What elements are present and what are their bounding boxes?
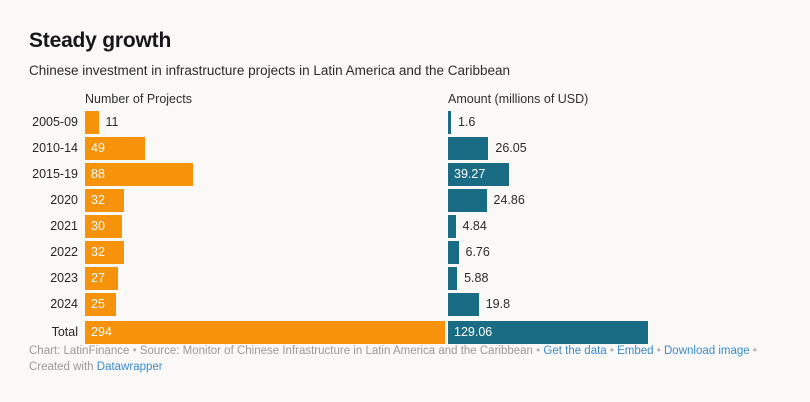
table-row: 2023275.88	[0, 266, 810, 292]
amount-value: 5.88	[464, 267, 488, 290]
row-label: 2021	[0, 217, 78, 235]
amount-value: 4.84	[463, 215, 487, 238]
amount-track: 5.88	[448, 267, 648, 290]
amount-value: 129.06	[454, 321, 492, 344]
chart-container: Steady growth Chinese investment in infr…	[0, 0, 810, 402]
footer-created-with: Created with	[29, 361, 94, 373]
projects-value: 88	[91, 163, 105, 186]
table-row: 2010-144926.05	[0, 136, 810, 162]
amount-bar[interactable]	[448, 189, 487, 212]
column-header-projects: Number of Projects	[85, 91, 192, 107]
amount-value: 1.6	[458, 111, 475, 134]
table-row: 2015-198839.27	[0, 162, 810, 188]
amount-value: 39.27	[454, 163, 485, 186]
amount-bar[interactable]	[448, 215, 456, 238]
table-row: 2021304.84	[0, 214, 810, 240]
projects-track: 294	[85, 321, 445, 344]
get-the-data-link[interactable]: Get the data	[543, 345, 606, 357]
amount-track: 4.84	[448, 215, 648, 238]
row-label: 2024	[0, 295, 78, 313]
amount-value: 26.05	[495, 137, 526, 160]
chart-rows: 2005-09111.62010-144926.052015-198839.27…	[0, 110, 810, 346]
projects-track: 25	[85, 293, 445, 316]
projects-track: 88	[85, 163, 445, 186]
projects-value: 30	[91, 215, 105, 238]
projects-track: 27	[85, 267, 445, 290]
footer-source: Source: Monitor of Chinese Infrastructur…	[140, 345, 533, 357]
amount-track: 6.76	[448, 241, 648, 264]
amount-track: 129.06	[448, 321, 648, 344]
table-row: 20242519.8	[0, 292, 810, 318]
embed-link[interactable]: Embed	[617, 345, 653, 357]
chart-subtitle: Chinese investment in infrastructure pro…	[29, 62, 510, 80]
table-row: 2022326.76	[0, 240, 810, 266]
amount-track: 39.27	[448, 163, 648, 186]
footer-chart-credit: Chart: LatinFinance	[29, 345, 129, 357]
chart-footer: Chart: LatinFinance • Source: Monitor of…	[29, 343, 789, 375]
amount-value: 24.86	[494, 189, 525, 212]
footer-separator-1: •	[133, 345, 137, 357]
amount-bar[interactable]	[448, 267, 457, 290]
column-header-amount: Amount (millions of USD)	[448, 91, 588, 107]
table-row: 2005-09111.6	[0, 110, 810, 136]
amount-track: 19.8	[448, 293, 648, 316]
row-label: 2022	[0, 243, 78, 261]
projects-track: 49	[85, 137, 445, 160]
projects-track: 11	[85, 111, 445, 134]
download-image-link[interactable]: Download image	[664, 345, 750, 357]
footer-separator-5: •	[753, 345, 757, 357]
projects-track: 30	[85, 215, 445, 238]
projects-track: 32	[85, 189, 445, 212]
amount-bar[interactable]	[448, 137, 488, 160]
datawrapper-link[interactable]: Datawrapper	[97, 361, 163, 373]
projects-bar[interactable]	[85, 111, 99, 134]
amount-bar[interactable]	[448, 111, 451, 134]
footer-separator-2: •	[536, 345, 540, 357]
projects-value: 11	[106, 111, 119, 134]
amount-track: 24.86	[448, 189, 648, 212]
projects-value: 25	[91, 293, 105, 316]
footer-separator-4: •	[657, 345, 661, 357]
projects-value: 32	[91, 241, 105, 264]
projects-value: 27	[91, 267, 105, 290]
amount-value: 19.8	[486, 293, 510, 316]
page-title: Steady growth	[29, 28, 171, 54]
projects-value: 32	[91, 189, 105, 212]
projects-value: 294	[91, 321, 112, 344]
row-label: 2020	[0, 191, 78, 209]
projects-value: 49	[91, 137, 105, 160]
table-row: 20203224.86	[0, 188, 810, 214]
amount-track: 26.05	[448, 137, 648, 160]
amount-track: 1.6	[448, 111, 648, 134]
row-label: 2010-14	[0, 139, 78, 157]
amount-bar[interactable]	[448, 241, 459, 264]
projects-bar[interactable]	[85, 321, 445, 344]
row-label: 2005-09	[0, 113, 78, 131]
projects-track: 32	[85, 241, 445, 264]
amount-value: 6.76	[466, 241, 490, 264]
amount-bar[interactable]	[448, 293, 479, 316]
footer-separator-3: •	[610, 345, 614, 357]
row-label: Total	[0, 323, 78, 341]
row-label: 2023	[0, 269, 78, 287]
row-label: 2015-19	[0, 165, 78, 183]
